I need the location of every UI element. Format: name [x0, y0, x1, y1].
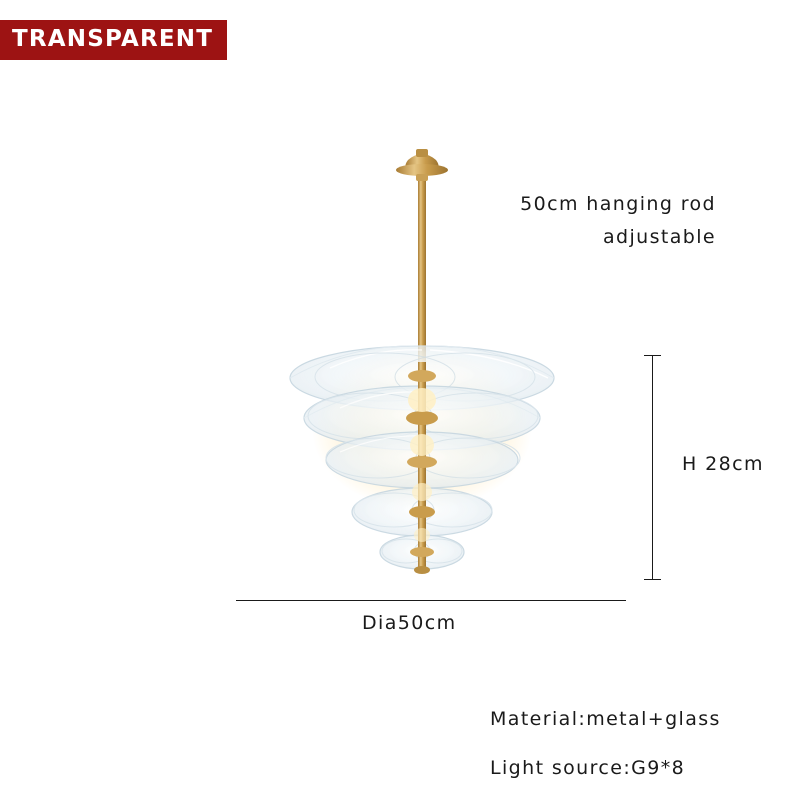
diameter-label: Dia50cm	[362, 612, 456, 634]
height-rule-bottom-tick	[644, 579, 661, 580]
height-label: H 28cm	[682, 453, 764, 475]
height-rule	[652, 355, 653, 580]
chandelier-illustration	[180, 100, 680, 600]
hanging-rod-note: 50cm hanging rod adjustable	[476, 188, 716, 254]
material-label: Material:metal+glass	[490, 708, 721, 730]
hanging-rod-note-line2: adjustable	[476, 221, 716, 254]
diameter-rule	[236, 600, 626, 601]
transparent-badge: TRANSPARENT	[0, 20, 227, 60]
light-source-label: Light source:G9*8	[490, 757, 685, 779]
chandelier-svg	[180, 100, 680, 600]
hanging-rod	[416, 174, 428, 366]
hanging-rod-note-line1: 50cm hanging rod	[520, 193, 716, 215]
height-rule-top-tick	[644, 355, 661, 356]
ceiling-canopy	[396, 149, 448, 176]
